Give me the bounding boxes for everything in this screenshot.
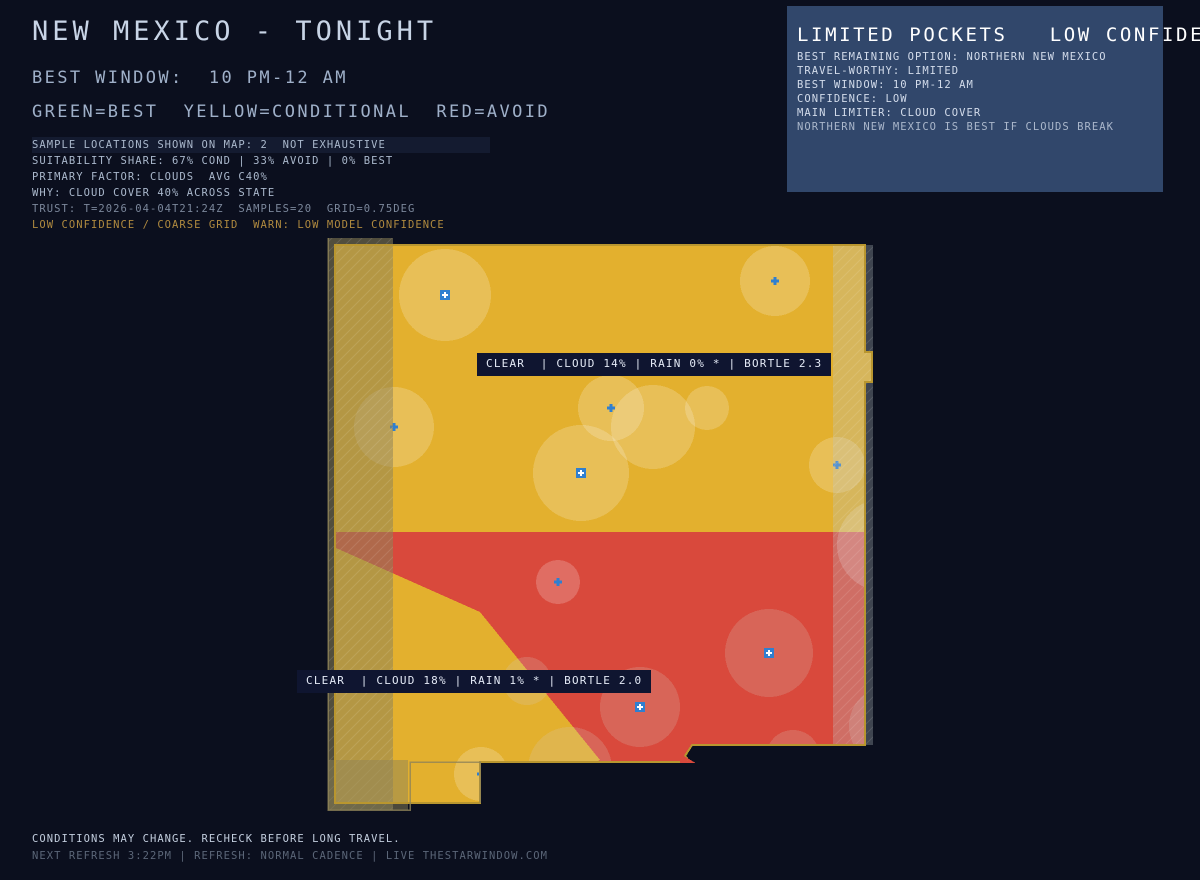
summary-panel-body: BEST REMAINING OPTION: NORTHERN NEW MEXI…	[797, 50, 1177, 134]
marker-cross-v	[444, 292, 446, 298]
dim-strip-right-hatch	[833, 245, 873, 745]
best-window-heading: BEST WINDOW: 10 PM-12 AM	[32, 68, 348, 88]
marker-plus-v	[557, 578, 560, 586]
sample-marker-major[interactable]	[764, 648, 774, 658]
marker-plus-v	[610, 404, 613, 412]
sample-marker-major[interactable]	[635, 702, 645, 712]
marker-cross-v	[580, 470, 582, 476]
marker-cross-v	[569, 766, 571, 772]
panel-note: NORTHERN NEW MEXICO IS BEST IF CLOUDS BR…	[797, 120, 1177, 134]
panel-best-window: BEST WINDOW: 10 PM-12 AM	[797, 78, 1177, 92]
marker-plus-h	[700, 824, 708, 827]
panel-main-limiter: MAIN LIMITER: CLOUD COVER	[797, 106, 1177, 120]
meta-why: WHY: CLOUD COVER 40% ACROSS STATE	[32, 185, 502, 201]
app-root: NEW MEXICO - TONIGHT BEST WINDOW: 10 PM-…	[0, 0, 1200, 880]
page-title: NEW MEXICO - TONIGHT	[32, 16, 437, 47]
meta-sample-locations: SAMPLE LOCATIONS SHOWN ON MAP: 2 NOT EXH…	[32, 137, 490, 153]
marker-cross-h	[886, 725, 892, 727]
map-tooltip-north[interactable]: CLEAR | CLOUD 14% | RAIN 0% * | BORTLE 2…	[478, 354, 830, 375]
panel-best-option: BEST REMAINING OPTION: NORTHERN NEW MEXI…	[797, 50, 1177, 64]
sample-marker-major[interactable]	[565, 764, 575, 774]
cloud-blob	[766, 730, 820, 784]
marker-cross-v	[882, 542, 884, 548]
legend-heading: GREEN=BEST YELLOW=CONDITIONAL RED=AVOID	[32, 102, 550, 122]
panel-confidence: CONFIDENCE: LOW	[797, 92, 1177, 106]
marker-cross-h	[567, 768, 573, 770]
marker-box	[565, 764, 575, 774]
meta-suitability-share: SUITABILITY SHARE: 67% COND | 33% AVOID …	[32, 153, 502, 169]
map-tooltip-south[interactable]: CLEAR | CLOUD 18% | RAIN 1% * | BORTLE 2…	[298, 671, 650, 692]
marker-cross-v	[888, 723, 890, 729]
marker-plus-h	[789, 756, 797, 759]
marker-cross-v	[768, 650, 770, 656]
footer-refresh-info: NEXT REFRESH 3:22PM | REFRESH: NORMAL CA…	[32, 850, 548, 862]
sample-marker-major[interactable]	[440, 290, 450, 300]
marker-plus-v	[792, 753, 795, 761]
sample-marker-minor[interactable]	[789, 753, 797, 761]
footer-disclaimer: CONDITIONS MAY CHANGE. RECHECK BEFORE LO…	[32, 833, 401, 845]
summary-panel-title: LIMITED POCKETS LOW CONFIDENCE	[797, 24, 1200, 46]
dim-strip-left-hatch	[328, 238, 393, 810]
marker-box	[884, 721, 894, 731]
cloud-blob	[565, 779, 637, 851]
panel-travel-worthy: TRAVEL-WORTHY: LIMITED	[797, 64, 1177, 78]
marker-plus-v	[774, 277, 777, 285]
marker-box	[878, 540, 888, 550]
marker-cross-v	[639, 704, 641, 710]
cloud-blob	[528, 727, 612, 811]
meta-primary-factor: PRIMARY FACTOR: CLOUDS AVG C40%	[32, 169, 502, 185]
sample-marker-major[interactable]	[576, 468, 586, 478]
marker-cross-h	[880, 544, 886, 546]
sample-marker-major[interactable]	[884, 721, 894, 731]
new-mexico-map[interactable]	[300, 200, 900, 860]
marker-plus-v	[703, 821, 706, 829]
sample-marker-major[interactable]	[878, 540, 888, 550]
cloud-blob	[685, 386, 729, 430]
sample-marker-minor[interactable]	[700, 821, 708, 829]
